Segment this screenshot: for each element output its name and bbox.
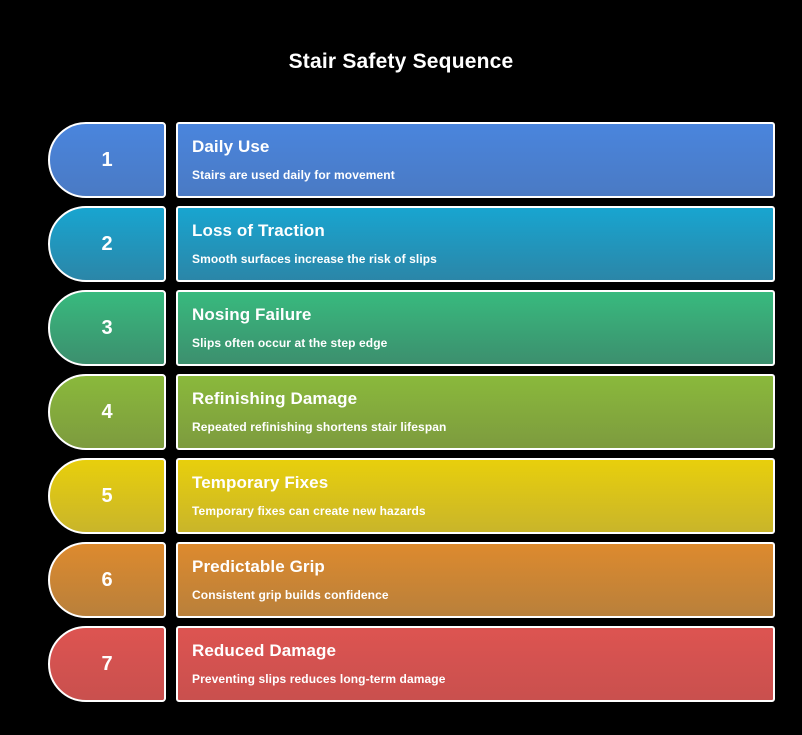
step-number-badge: 7	[48, 626, 166, 702]
step-description: Consistent grip builds confidence	[192, 587, 773, 603]
step-content: Reduced Damage Preventing slips reduces …	[176, 626, 775, 702]
step-heading: Daily Use	[192, 136, 773, 158]
step-number: 1	[101, 150, 112, 170]
list-item[interactable]: 2 Loss of Traction Smooth surfaces incre…	[0, 206, 802, 282]
page-title: Stair Safety Sequence	[0, 48, 802, 76]
step-content: Nosing Failure Slips often occur at the …	[176, 290, 775, 366]
step-heading: Reduced Damage	[192, 640, 773, 662]
list-item[interactable]: 1 Daily Use Stairs are used daily for mo…	[0, 122, 802, 198]
list-item[interactable]: 4 Refinishing Damage Repeated refinishin…	[0, 374, 802, 450]
step-number-badge: 6	[48, 542, 166, 618]
step-description: Smooth surfaces increase the risk of sli…	[192, 251, 773, 267]
steps-list: 1 Daily Use Stairs are used daily for mo…	[0, 122, 802, 710]
step-description: Stairs are used daily for movement	[192, 167, 773, 183]
list-item[interactable]: 3 Nosing Failure Slips often occur at th…	[0, 290, 802, 366]
step-content: Predictable Grip Consistent grip builds …	[176, 542, 775, 618]
step-heading: Temporary Fixes	[192, 472, 773, 494]
step-description: Temporary fixes can create new hazards	[192, 503, 773, 519]
step-description: Slips often occur at the step edge	[192, 335, 773, 351]
infographic-canvas: Stair Safety Sequence 1 Daily Use Stairs…	[0, 0, 802, 735]
step-number: 2	[101, 234, 112, 254]
list-item[interactable]: 7 Reduced Damage Preventing slips reduce…	[0, 626, 802, 702]
step-number: 7	[101, 654, 112, 674]
step-description: Preventing slips reduces long-term damag…	[192, 671, 773, 687]
step-content: Loss of Traction Smooth surfaces increas…	[176, 206, 775, 282]
step-number: 4	[101, 402, 112, 422]
step-heading: Nosing Failure	[192, 304, 773, 326]
step-number-badge: 3	[48, 290, 166, 366]
step-number-badge: 1	[48, 122, 166, 198]
list-item[interactable]: 6 Predictable Grip Consistent grip build…	[0, 542, 802, 618]
step-number-badge: 2	[48, 206, 166, 282]
step-number: 6	[101, 570, 112, 590]
step-content: Daily Use Stairs are used daily for move…	[176, 122, 775, 198]
step-number: 3	[101, 318, 112, 338]
step-description: Repeated refinishing shortens stair life…	[192, 419, 773, 435]
step-number-badge: 5	[48, 458, 166, 534]
step-heading: Refinishing Damage	[192, 388, 773, 410]
step-heading: Loss of Traction	[192, 220, 773, 242]
step-content: Refinishing Damage Repeated refinishing …	[176, 374, 775, 450]
step-content: Temporary Fixes Temporary fixes can crea…	[176, 458, 775, 534]
step-number: 5	[101, 486, 112, 506]
step-number-badge: 4	[48, 374, 166, 450]
step-heading: Predictable Grip	[192, 556, 773, 578]
list-item[interactable]: 5 Temporary Fixes Temporary fixes can cr…	[0, 458, 802, 534]
